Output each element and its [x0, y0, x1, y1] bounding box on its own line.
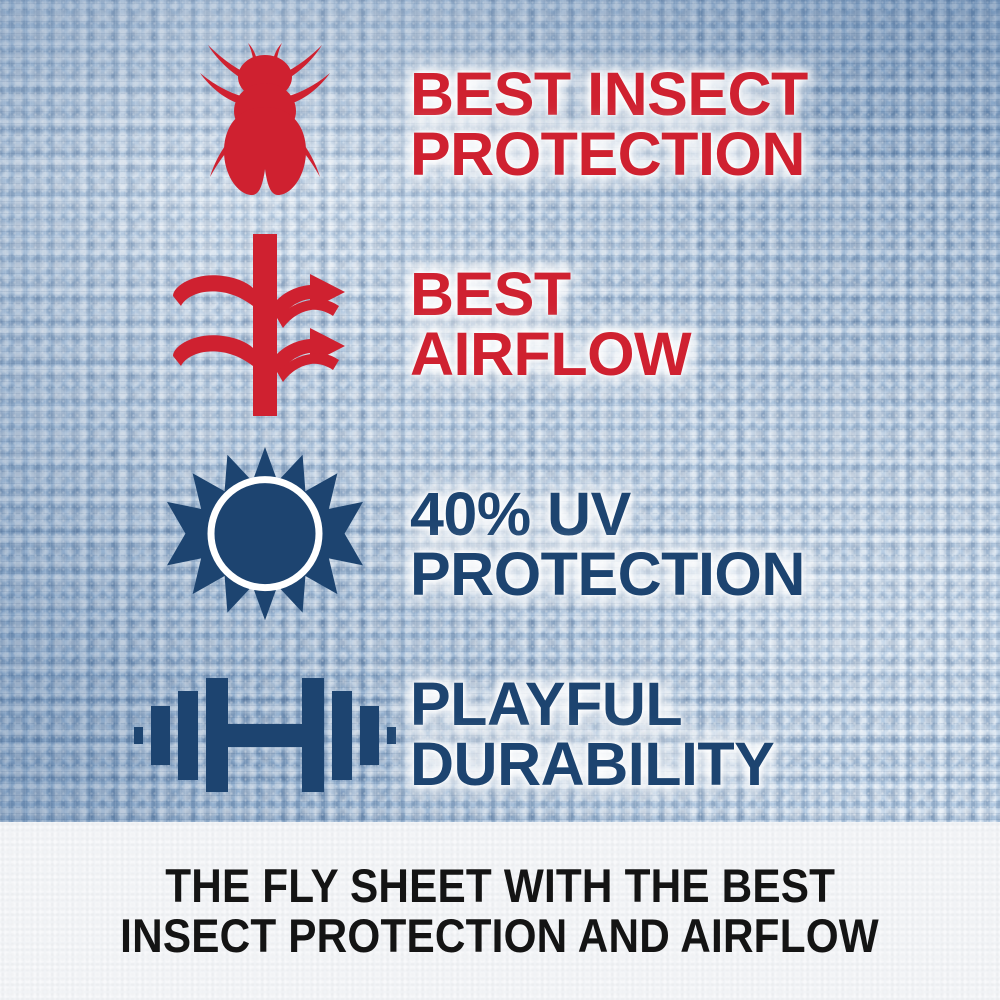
infographic-root: BEST INSECT PROTECTION: [0, 0, 1000, 1000]
feature-label-line-1: BEST INSECT: [410, 65, 910, 125]
feature-label-line-2: AIRFLOW: [410, 325, 910, 385]
feature-label-line-1: PLAYFUL: [410, 675, 910, 735]
feature-label-line-2: PROTECTION: [410, 125, 910, 185]
feature-text-cell: PLAYFUL DURABILITY: [410, 675, 910, 795]
caption-line-2: INSECT PROTECTION AND AIRFLOW: [121, 911, 880, 961]
dumbbell-icon: [134, 675, 396, 795]
sun-uv-icon: [165, 445, 365, 645]
feature-icon-cell: [120, 230, 410, 420]
feature-label-line-2: PROTECTION: [410, 545, 910, 605]
feature-label-line-1: BEST: [410, 265, 910, 325]
caption-line-1: THE FLY SHEET WITH THE BEST: [165, 861, 835, 911]
feature-row-insect-protection: BEST INSECT PROTECTION: [120, 45, 910, 205]
feature-icon-cell: [120, 35, 410, 215]
airflow-through-mesh-icon: [165, 230, 365, 420]
caption-band: THE FLY SHEET WITH THE BEST INSECT PROTE…: [0, 822, 1000, 1000]
feature-icon-cell: [120, 675, 410, 795]
feature-label-line-2: DURABILITY: [410, 735, 910, 795]
feature-label-line-1: 40% UV: [410, 485, 910, 545]
feature-text-cell: BEST AIRFLOW: [410, 265, 910, 385]
feature-text-cell: BEST INSECT PROTECTION: [410, 65, 910, 185]
fly-icon: [190, 35, 340, 215]
feature-row-airflow: BEST AIRFLOW: [120, 225, 910, 425]
feature-text-cell: 40% UV PROTECTION: [410, 485, 910, 605]
feature-icon-cell: [120, 445, 410, 645]
feature-row-durability: PLAYFUL DURABILITY: [120, 655, 910, 815]
feature-row-uv-protection: 40% UV PROTECTION: [120, 440, 910, 650]
feature-list: BEST INSECT PROTECTION: [0, 0, 1000, 822]
